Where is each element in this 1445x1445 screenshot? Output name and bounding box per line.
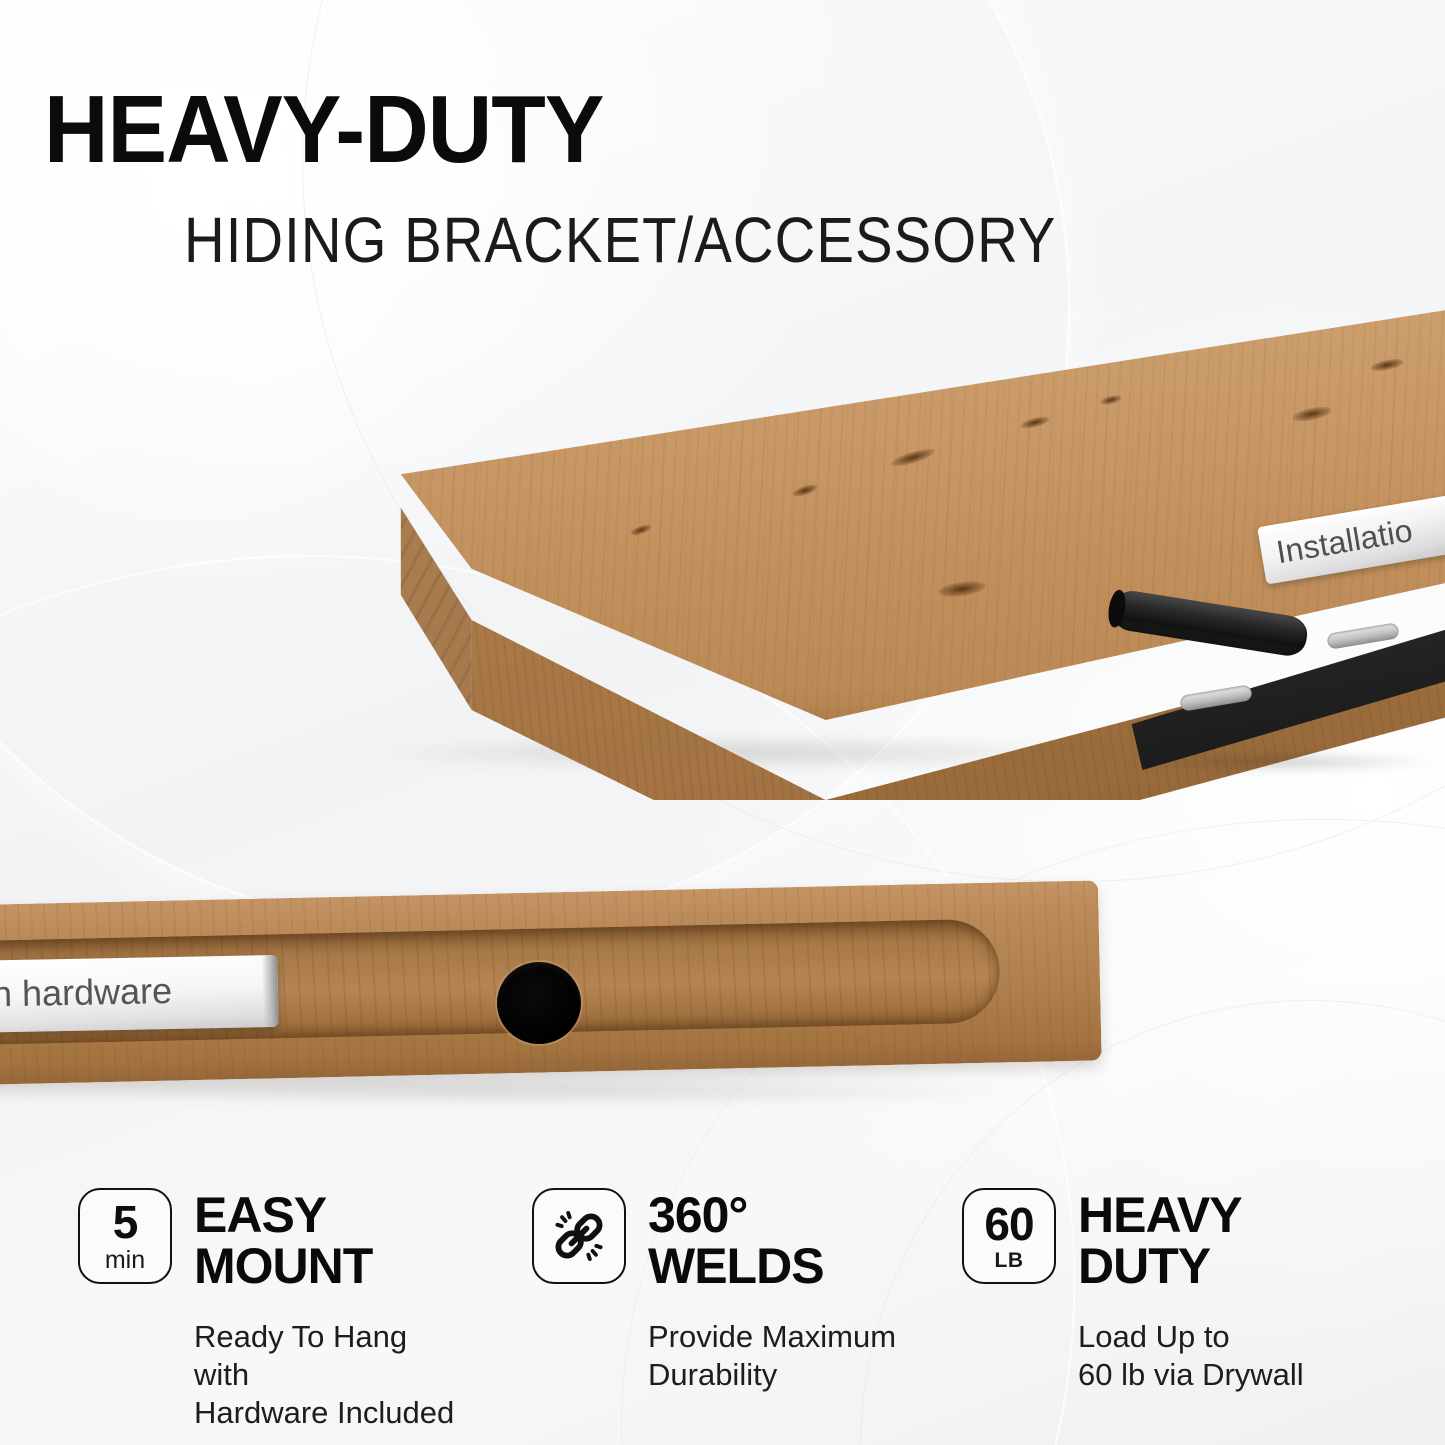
packet-end-cap [261,955,278,1027]
feature-header: 5 min EASY MOUNT [78,1188,470,1292]
badge-value: 5 [113,1199,138,1245]
feature-description: Provide Maximum Durability [648,1318,920,1394]
feature-title: EASY MOUNT [194,1188,372,1292]
feature-header: 360° WELDS [532,1188,920,1292]
bottom-shelf-shadow [10,1078,1030,1104]
bracket-mounting-hole [497,962,581,1044]
feature-description: Ready To Hang with Hardware Included [194,1318,470,1431]
feature-360-welds: 360° WELDS Provide Maximum Durability [470,1188,920,1418]
chain-link-icon [532,1188,626,1284]
packet-label-bottom: ion hardware [0,970,172,1016]
feature-heavy-duty: 60 LB HEAVY DUTY Load Up to 60 lb via Dr… [920,1188,1390,1418]
badge-unit: LB [995,1250,1024,1271]
badge-unit: min [105,1248,145,1273]
weight-badge-icon: 60 LB [962,1188,1056,1284]
feature-header: 60 LB HEAVY DUTY [962,1188,1390,1292]
headline-block: HEAVY-DUTY [44,86,646,174]
page-title: HEAVY-DUTY [44,86,604,174]
feature-description: Load Up to 60 lb via Drywall [1078,1318,1390,1394]
product-infographic-poster: HEAVY-DUTY HIDING BRACKET/ACCESSORY Inst… [0,0,1445,1445]
feature-title: HEAVY DUTY [1078,1188,1242,1292]
feature-title: 360° WELDS [648,1188,824,1292]
feature-list: 5 min EASY MOUNT Ready To Hang with Hard… [0,1188,1445,1418]
badge-value: 60 [984,1201,1033,1247]
clock-badge-icon: 5 min [78,1188,172,1284]
installation-hardware-packet-bottom: ion hardware [0,955,279,1033]
page-subtitle: HIDING BRACKET/ACCESSORY [184,208,1056,272]
feature-easy-mount: 5 min EASY MOUNT Ready To Hang with Hard… [0,1188,470,1418]
